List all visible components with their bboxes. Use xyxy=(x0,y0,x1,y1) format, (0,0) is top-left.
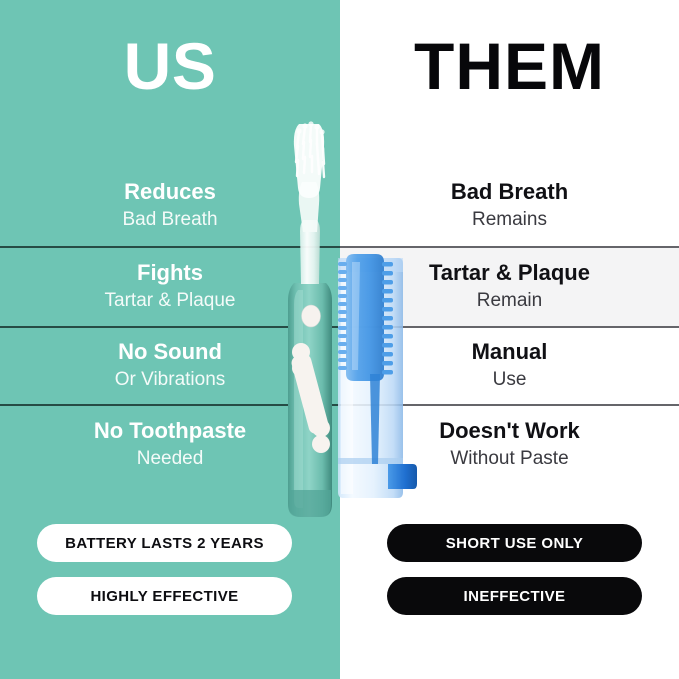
pill-short-use-only[interactable]: SHORT USE ONLY xyxy=(387,524,642,562)
left-row-3-subtitle: Needed xyxy=(137,447,204,472)
left-row-2-title: No Sound xyxy=(118,339,222,365)
right-row-2-title: Manual xyxy=(472,339,548,365)
left-row-2: No Sound Or Vibrations xyxy=(0,328,340,404)
left-row-0-title: Reduces xyxy=(124,179,216,205)
left-row-3: No Toothpaste Needed xyxy=(0,406,340,484)
right-row-0: Bad Breath Remains xyxy=(340,166,679,246)
right-row-3-title: Doesn't Work xyxy=(439,418,580,444)
comparison-infographic: US THEM Reduces Bad Breath Fights Tartar… xyxy=(0,0,679,679)
column-header-us: US xyxy=(0,26,340,106)
pill-battery-lasts-2-years[interactable]: BATTERY LASTS 2 YEARS xyxy=(37,524,292,562)
right-row-1-subtitle: Remain xyxy=(477,289,542,314)
left-row-2-subtitle: Or Vibrations xyxy=(115,368,226,393)
right-row-2: Manual Use xyxy=(340,328,679,404)
pill-highly-effective[interactable]: HIGHLY EFFECTIVE xyxy=(37,577,292,615)
left-row-1-title: Fights xyxy=(137,260,203,286)
right-row-1-title: Tartar & Plaque xyxy=(429,260,590,286)
right-row-0-title: Bad Breath xyxy=(451,179,568,205)
column-header-them: THEM xyxy=(340,26,679,106)
left-row-1: Fights Tartar & Plaque xyxy=(0,248,340,326)
right-row-1: Tartar & Plaque Remain xyxy=(340,248,679,326)
right-row-3-subtitle: Without Paste xyxy=(450,447,568,472)
right-row-0-subtitle: Remains xyxy=(472,208,547,233)
right-row-2-subtitle: Use xyxy=(493,368,527,393)
pill-ineffective[interactable]: INEFFECTIVE xyxy=(387,577,642,615)
right-row-3: Doesn't Work Without Paste xyxy=(340,406,679,484)
left-row-0: Reduces Bad Breath xyxy=(0,166,340,246)
left-row-1-subtitle: Tartar & Plaque xyxy=(105,289,236,314)
left-row-3-title: No Toothpaste xyxy=(94,418,246,444)
left-row-0-subtitle: Bad Breath xyxy=(122,208,217,233)
